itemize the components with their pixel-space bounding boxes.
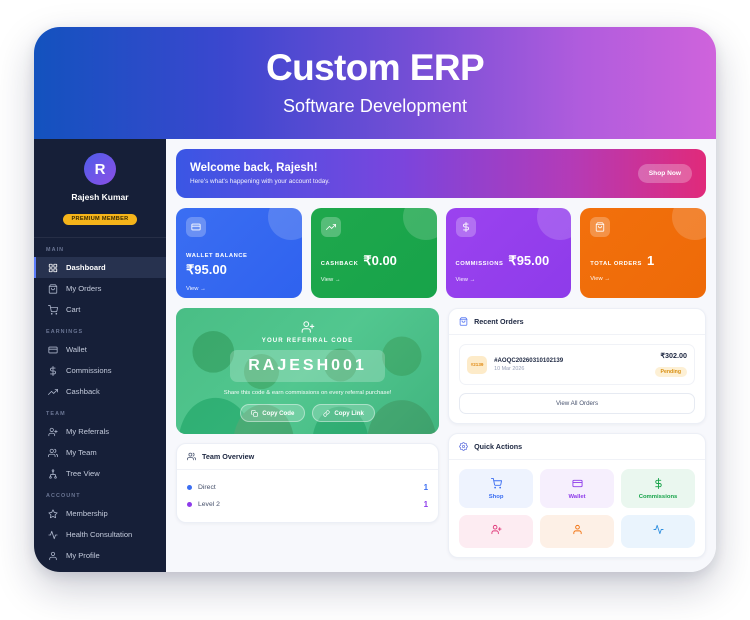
referral-label: YOUR REFERRAL CODE bbox=[262, 337, 353, 344]
recent-orders-title: Recent Orders bbox=[474, 317, 524, 326]
decorative-blob bbox=[537, 208, 571, 240]
sidebar-item-cashback[interactable]: Cashback bbox=[34, 381, 166, 402]
decorative-blob bbox=[403, 208, 437, 240]
team-overview-title: Team Overview bbox=[202, 452, 254, 461]
copy-link-button[interactable]: Copy Link bbox=[312, 404, 374, 422]
sidebar-item-my-team[interactable]: My Team bbox=[34, 442, 166, 463]
quick-actions-card: Quick Actions Shop Wallet Commissions bbox=[448, 433, 706, 558]
left-column: YOUR REFERRAL CODE RAJESH001 Share this … bbox=[176, 308, 439, 567]
orders-list: #2139 #AOQC20260310102139 10 Mar 2026 ₹3… bbox=[459, 344, 695, 385]
user-icon bbox=[572, 524, 583, 535]
welcome-banner: Welcome back, Rajesh! Here's what's happ… bbox=[176, 149, 706, 198]
quick-action-shop[interactable]: Shop bbox=[459, 469, 533, 508]
shop-now-button[interactable]: Shop Now bbox=[638, 164, 692, 183]
copy-code-label: Copy Code bbox=[262, 410, 294, 417]
app-window: Custom ERP Software Development R Rajesh… bbox=[34, 27, 716, 572]
cart-icon bbox=[491, 478, 502, 489]
sidebar-item-label: Cashback bbox=[66, 387, 100, 396]
wallet-icon bbox=[48, 345, 58, 355]
sidebar-item-commissions[interactable]: Commissions bbox=[34, 360, 166, 381]
order-row[interactable]: #2139 #AOQC20260310102139 10 Mar 2026 ₹3… bbox=[459, 344, 695, 385]
dollar-icon bbox=[653, 478, 664, 489]
trend-up-icon bbox=[48, 387, 58, 397]
link-icon bbox=[323, 410, 330, 417]
trend-up-icon bbox=[321, 217, 341, 237]
sidebar-item-health-consultation[interactable]: Health Consultation bbox=[34, 524, 166, 545]
right-column: Recent Orders #2139 #AOQC20260310102139 … bbox=[448, 308, 706, 567]
star-icon bbox=[48, 509, 58, 519]
sidebar-item-label: My Orders bbox=[66, 284, 101, 293]
stat-value: ₹95.00 bbox=[508, 253, 549, 269]
quick-action-label: Commissions bbox=[639, 494, 678, 500]
copy-code-button[interactable]: Copy Code bbox=[240, 404, 305, 422]
order-id: #AOQC20260310102139 bbox=[494, 357, 647, 364]
sidebar: R Rajesh Kumar PREMIUM MEMBER MAINDashbo… bbox=[34, 139, 166, 572]
dollar-icon bbox=[456, 217, 476, 237]
stat-view-link[interactable]: View → bbox=[321, 277, 427, 283]
cart-icon bbox=[48, 305, 58, 315]
copy-icon bbox=[251, 410, 258, 417]
sidebar-profile: R Rajesh Kumar PREMIUM MEMBER bbox=[34, 139, 166, 238]
sidebar-item-label: Cart bbox=[66, 305, 80, 314]
user-plus-icon bbox=[301, 320, 315, 334]
card-icon bbox=[572, 478, 583, 489]
quick-action-item-4[interactable] bbox=[459, 515, 533, 548]
referral-code: RAJESH001 bbox=[230, 350, 385, 382]
sidebar-item-my-profile[interactable]: My Profile bbox=[34, 545, 166, 566]
welcome-subtitle: Here's what's happening with your accoun… bbox=[190, 178, 330, 185]
stat-view-link[interactable]: View → bbox=[186, 286, 292, 292]
lower-grid: YOUR REFERRAL CODE RAJESH001 Share this … bbox=[176, 308, 706, 567]
stat-value: 1 bbox=[647, 253, 654, 268]
quick-action-label: Shop bbox=[489, 494, 504, 500]
sidebar-item-label: Health Consultation bbox=[66, 530, 132, 539]
pulse-icon bbox=[48, 530, 58, 540]
stat-label: TOTAL ORDERS bbox=[590, 261, 642, 267]
sidebar-item-membership[interactable]: Membership bbox=[34, 503, 166, 524]
nav-section-label: EARNINGS bbox=[34, 320, 166, 339]
stat-card-commissions[interactable]: COMMISSIONS ₹95.00 View → bbox=[446, 208, 572, 298]
quick-action-label: Wallet bbox=[568, 494, 585, 500]
decorative-blob bbox=[672, 208, 706, 240]
stat-view-link[interactable]: View → bbox=[590, 276, 696, 282]
quick-actions-header: Quick Actions bbox=[449, 434, 705, 460]
status-dot bbox=[187, 485, 192, 490]
stat-card-total-orders[interactable]: TOTAL ORDERS 1 View → bbox=[580, 208, 706, 298]
sidebar-item-label: Tree View bbox=[66, 469, 100, 478]
users-icon bbox=[187, 452, 196, 461]
sidebar-item-my-referrals[interactable]: My Referrals bbox=[34, 421, 166, 442]
sidebar-item-label: Commissions bbox=[66, 366, 112, 375]
copy-link-label: Copy Link bbox=[334, 410, 363, 417]
gear-icon bbox=[459, 442, 468, 451]
recent-orders-header: Recent Orders bbox=[449, 309, 705, 335]
quick-action-wallet[interactable]: Wallet bbox=[540, 469, 614, 508]
user-plus-icon bbox=[48, 427, 58, 437]
tree-icon bbox=[48, 469, 58, 479]
users-icon bbox=[48, 448, 58, 458]
team-row-label: Level 2 bbox=[198, 501, 220, 508]
card-icon bbox=[186, 217, 206, 237]
team-row-count: 1 bbox=[424, 500, 428, 509]
team-row: Direct 1 bbox=[187, 479, 428, 496]
dollar-icon bbox=[48, 366, 58, 376]
team-overview-header: Team Overview bbox=[177, 444, 438, 470]
team-rows: Direct 1 Level 2 1 bbox=[177, 470, 438, 522]
team-row-count: 1 bbox=[424, 483, 428, 492]
page-subtitle: Software Development bbox=[283, 96, 467, 117]
stat-card-cashback[interactable]: CASHBACK ₹0.00 View → bbox=[311, 208, 437, 298]
quick-actions-title: Quick Actions bbox=[474, 442, 522, 451]
sidebar-item-cart[interactable]: Cart bbox=[34, 299, 166, 320]
stat-label: CASHBACK bbox=[321, 261, 359, 267]
bag-icon bbox=[590, 217, 610, 237]
quick-action-commissions[interactable]: Commissions bbox=[621, 469, 695, 508]
quick-action-item-6[interactable] bbox=[621, 515, 695, 548]
app-body: R Rajesh Kumar PREMIUM MEMBER MAINDashbo… bbox=[34, 139, 716, 572]
stat-value: ₹95.00 bbox=[186, 262, 292, 278]
quick-action-item-5[interactable] bbox=[540, 515, 614, 548]
decorative-blob bbox=[268, 208, 302, 240]
referral-card: YOUR REFERRAL CODE RAJESH001 Share this … bbox=[176, 308, 439, 434]
view-all-orders-button[interactable]: View All Orders bbox=[459, 393, 695, 414]
stat-value: ₹0.00 bbox=[363, 253, 397, 269]
order-date: 10 Mar 2026 bbox=[494, 366, 647, 372]
sidebar-item-wallet[interactable]: Wallet bbox=[34, 339, 166, 360]
main-content: Welcome back, Rajesh! Here's what's happ… bbox=[166, 139, 716, 572]
sidebar-item-dashboard[interactable]: Dashboard bbox=[34, 257, 166, 278]
team-row-label: Direct bbox=[198, 484, 216, 491]
nav-section-label: TEAM bbox=[34, 402, 166, 421]
team-row: Level 2 1 bbox=[187, 496, 428, 513]
pulse-icon bbox=[653, 524, 664, 535]
order-thumbnail: #2139 bbox=[467, 356, 487, 374]
stat-view-link[interactable]: View → bbox=[456, 277, 562, 283]
team-overview-card: Team Overview Direct 1 Level 2 1 bbox=[176, 443, 439, 523]
referral-description: Share this code & earn commissions on ev… bbox=[224, 390, 392, 396]
sidebar-item-label: Membership bbox=[66, 509, 108, 518]
sidebar-item-label: My Referrals bbox=[66, 427, 109, 436]
nav-section-label: MAIN bbox=[34, 238, 166, 257]
avatar: R bbox=[84, 153, 116, 185]
page-header: Custom ERP Software Development bbox=[34, 27, 716, 139]
page-title: Custom ERP bbox=[266, 49, 484, 88]
status-dot bbox=[187, 502, 192, 507]
grid-icon bbox=[48, 263, 58, 273]
sidebar-item-label: My Profile bbox=[66, 551, 100, 560]
bag-icon bbox=[459, 317, 468, 326]
sidebar-item-my-orders[interactable]: My Orders bbox=[34, 278, 166, 299]
stat-label: WALLET BALANCE bbox=[186, 253, 292, 259]
profile-name: Rajesh Kumar bbox=[42, 192, 158, 202]
sidebar-item-label: Wallet bbox=[66, 345, 87, 354]
recent-orders-card: Recent Orders #2139 #AOQC20260310102139 … bbox=[448, 308, 706, 424]
welcome-title: Welcome back, Rajesh! bbox=[190, 162, 330, 174]
bag-icon bbox=[48, 284, 58, 294]
quick-actions-grid: Shop Wallet Commissions bbox=[459, 469, 695, 548]
sidebar-item-label: My Team bbox=[66, 448, 97, 457]
membership-badge: PREMIUM MEMBER bbox=[63, 214, 136, 225]
sidebar-item-tree-view[interactable]: Tree View bbox=[34, 463, 166, 484]
user-plus-icon bbox=[491, 524, 502, 535]
sidebar-item-label: Dashboard bbox=[66, 263, 106, 272]
stat-cards: WALLET BALANCE ₹95.00 View → CASHBACK ₹0… bbox=[176, 208, 706, 298]
stat-label: COMMISSIONS bbox=[456, 261, 504, 267]
stat-card-wallet-balance[interactable]: WALLET BALANCE ₹95.00 View → bbox=[176, 208, 302, 298]
sidebar-nav: MAINDashboardMy OrdersCartEARNINGSWallet… bbox=[34, 238, 166, 566]
status-badge: Pending bbox=[655, 367, 687, 377]
nav-section-label: ACCOUNT bbox=[34, 484, 166, 503]
order-amount: ₹302.00 bbox=[655, 351, 687, 360]
user-icon bbox=[48, 551, 58, 561]
